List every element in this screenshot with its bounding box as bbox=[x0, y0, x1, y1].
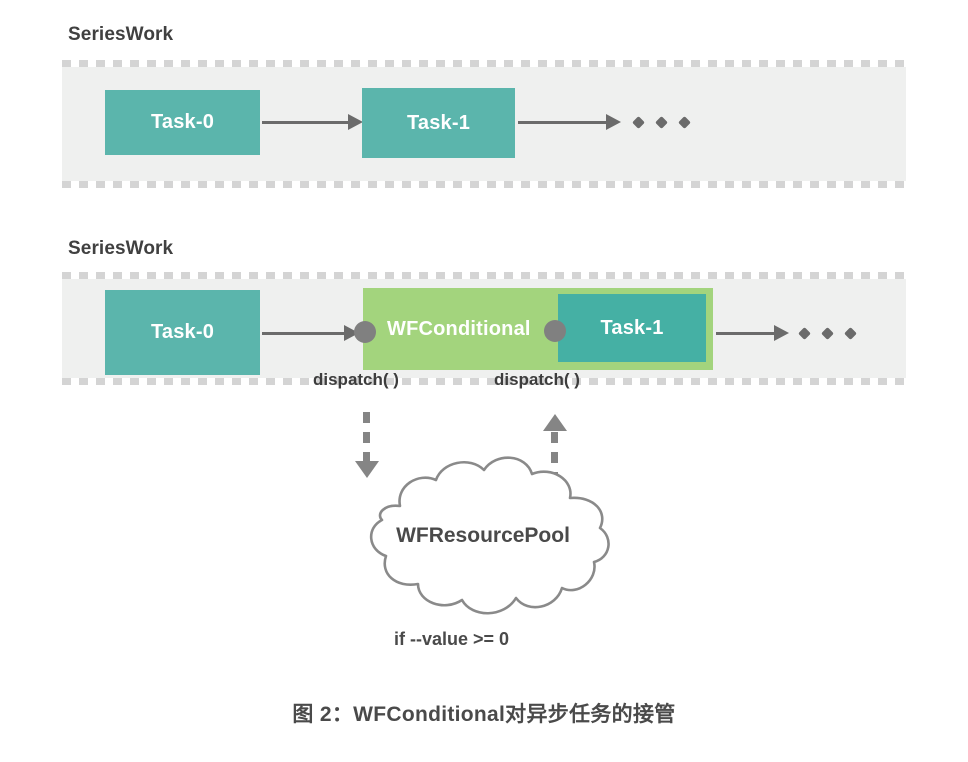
band-1-dashed-border-bottom bbox=[62, 181, 906, 188]
band-2-label: SeriesWork bbox=[68, 238, 173, 260]
band-1-ellipsis bbox=[634, 118, 689, 127]
band-1-task-0-box[interactable]: Task-0 bbox=[105, 90, 260, 155]
dispatch-up-arrow-head bbox=[543, 414, 567, 431]
band-2-ellipsis bbox=[800, 329, 855, 338]
ellipsis-dot bbox=[678, 116, 691, 129]
band-1-arrow-1-head bbox=[348, 114, 363, 130]
band-1-label: SeriesWork bbox=[68, 24, 173, 46]
band-1-task-1-label: Task-1 bbox=[407, 112, 470, 135]
band-1-task-0-label: Task-0 bbox=[151, 111, 214, 134]
dispatch-label-1: dispatch( ) bbox=[313, 370, 399, 390]
band-2-dashed-border-top bbox=[62, 272, 906, 279]
band-2-task-1-box[interactable]: Task-1 bbox=[558, 294, 706, 362]
cloud-condition-label: if --value >= 0 bbox=[394, 629, 509, 650]
dispatch-connector-circle-1 bbox=[354, 321, 376, 343]
wfresourcepool-cloud[interactable]: WFResourcePool bbox=[338, 446, 628, 626]
band-2-dashed-border-bottom bbox=[62, 378, 906, 385]
figure-caption: 图 2：WFConditional对异步任务的接管 bbox=[0, 698, 968, 728]
band-2-task-1-label: Task-1 bbox=[600, 317, 663, 340]
band-2-arrow-1-line bbox=[262, 332, 348, 335]
band-1-arrow-1-line bbox=[262, 121, 352, 124]
band-2-task-0-label: Task-0 bbox=[151, 321, 214, 344]
wfresourcepool-label: WFResourcePool bbox=[338, 524, 628, 548]
band-2-arrow-2-head bbox=[774, 325, 789, 341]
ellipsis-dot bbox=[655, 116, 668, 129]
figure-canvas: SeriesWork Task-0 Task-1 SeriesWork Task… bbox=[0, 0, 968, 762]
band-1-dashed-border-top bbox=[62, 60, 906, 67]
ellipsis-dot bbox=[844, 327, 857, 340]
band-2-arrow-2-line bbox=[716, 332, 778, 335]
band-1-task-1-box[interactable]: Task-1 bbox=[362, 88, 515, 158]
band-1-arrow-2-line bbox=[518, 121, 610, 124]
dispatch-label-2: dispatch( ) bbox=[494, 370, 580, 390]
ellipsis-dot bbox=[821, 327, 834, 340]
dispatch-connector-circle-2 bbox=[544, 320, 566, 342]
band-2-wfconditional-label: WFConditional bbox=[387, 318, 531, 341]
ellipsis-dot bbox=[798, 327, 811, 340]
ellipsis-dot bbox=[632, 116, 645, 129]
band-2-task-0-box[interactable]: Task-0 bbox=[105, 290, 260, 375]
band-1-arrow-2-head bbox=[606, 114, 621, 130]
